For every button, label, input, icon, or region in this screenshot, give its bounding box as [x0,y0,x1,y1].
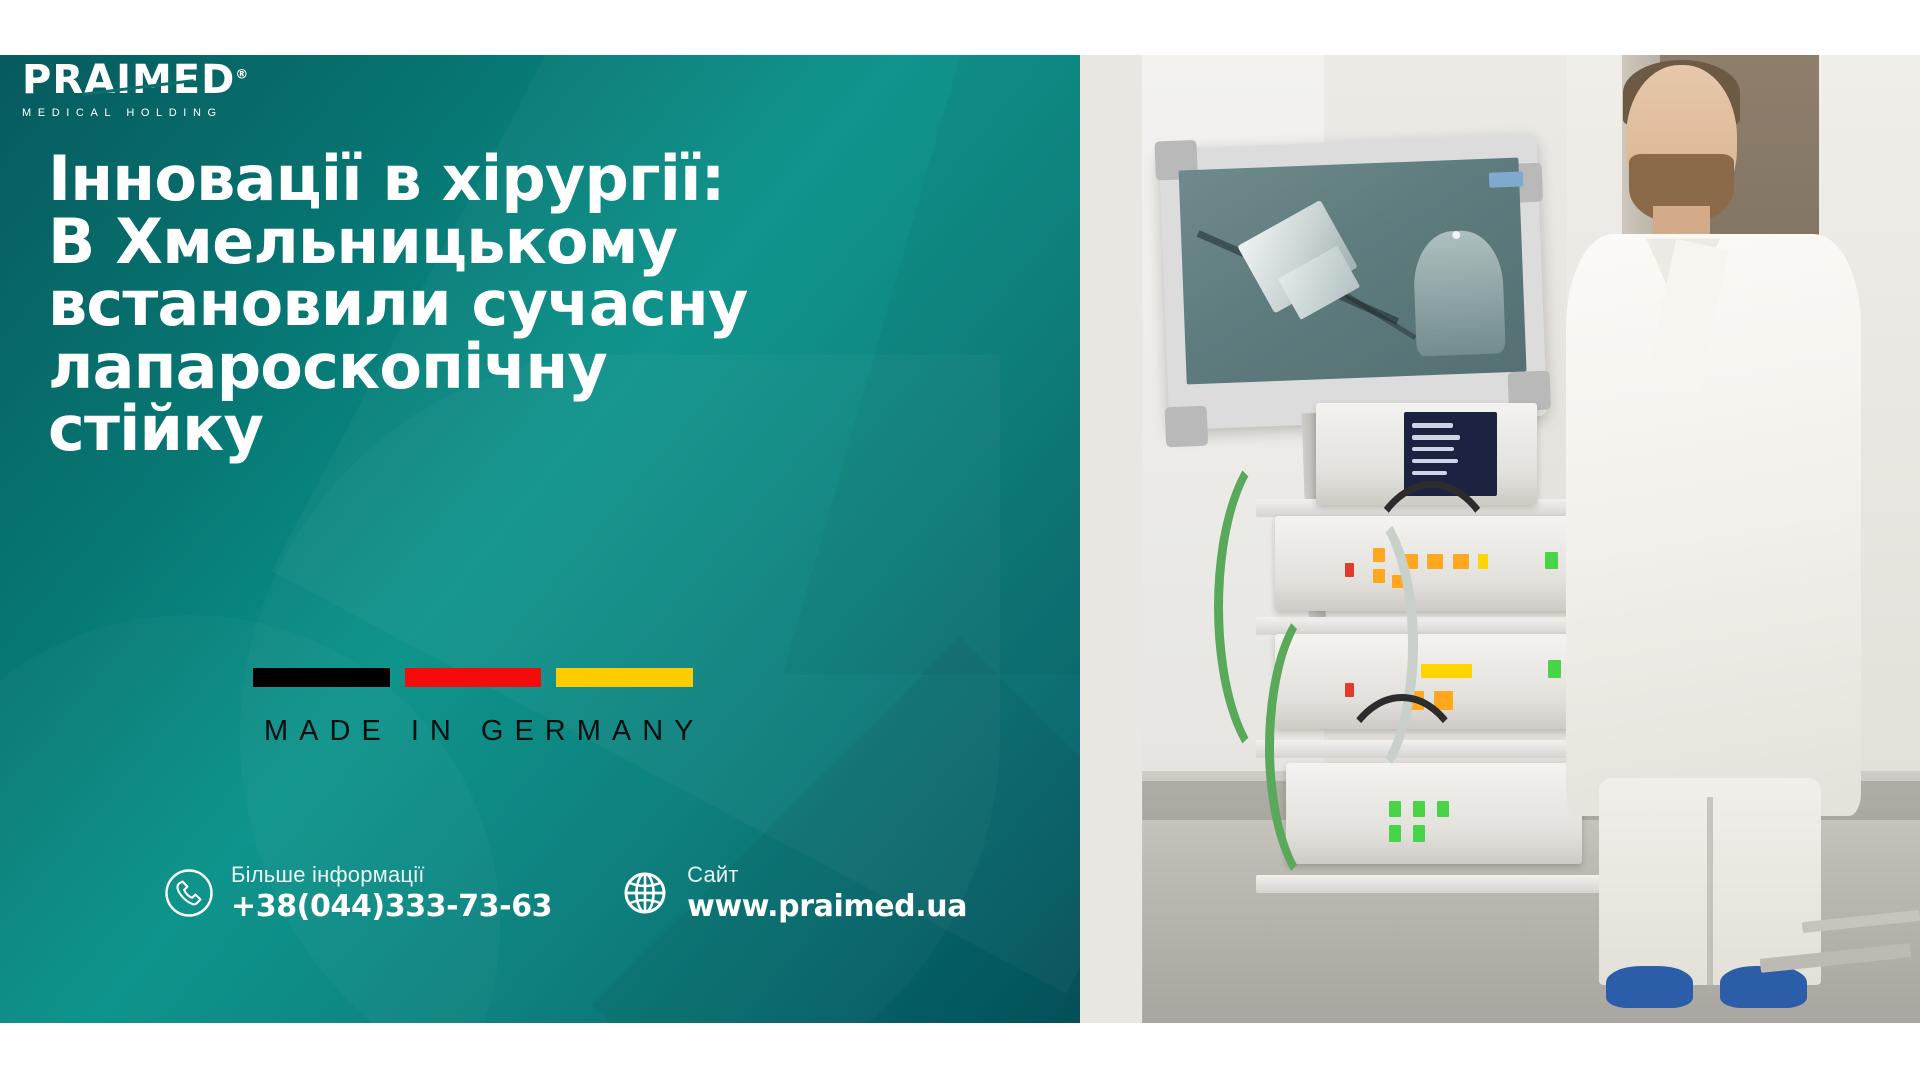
contact-website-label: Сайт [687,862,967,887]
made-in-germany-badge: MADE IN GERMANY [253,668,693,748]
headline-line-4: лапароскопічну [48,336,928,399]
headline: Інновації в хірургії: В Хмельницькому вс… [48,148,928,461]
contact-website-value[interactable]: www.praimed.ua [687,890,967,925]
globe-icon [620,868,670,918]
flag-bar-red [405,668,542,687]
headline-line-5: стійку [48,398,928,461]
doctor-shoe-right [1720,966,1807,1008]
contact-row: Більше інформації +38(044)333-73-63 Сайт… [164,862,967,925]
monitor-screen [1178,158,1526,384]
monitor-image-person [1412,229,1505,356]
phone-icon [164,868,214,918]
module-screen-line-1 [1412,423,1453,427]
contact-phone-text: Більше інформації +38(044)333-73-63 [231,862,552,925]
headline-line-1: Інновації в хірургії: [48,148,928,211]
module-screen-line-2 [1412,435,1460,439]
flag-bar-black [253,668,390,687]
brand-logo-tagline: MEDICAL HOLDING [22,107,249,119]
contact-website-text: Сайт www.praimed.ua [687,862,967,925]
monitor-image-glint [1452,231,1460,239]
module-screen-line-4 [1412,459,1459,463]
headline-line-2: В Хмельницькому [48,211,928,274]
brand-logo-name: PRAIMED [22,57,235,103]
medical-monitor: FSN [1159,135,1547,430]
photo-clip: FSN [1080,55,1920,1023]
contact-phone-label: Більше інформації [231,862,552,887]
monitor-sticker [1489,172,1524,187]
dark-cable-1 [1357,481,1507,711]
equipment-photo: FSN [1080,55,1920,1023]
contact-phone-value[interactable]: +38(044)333-73-63 [231,890,552,925]
promo-banner: PRAIMED® MEDICAL HOLDING Інновації в хір… [0,0,1920,1080]
contact-website[interactable]: Сайт www.praimed.ua [620,862,967,925]
module-screen-line-5 [1412,471,1447,475]
made-in-germany-label: MADE IN GERMANY [253,715,693,748]
doctor-figure [1559,65,1895,1004]
brand-logo-wordmark: PRAIMED® [22,60,249,100]
contact-phone[interactable]: Більше інформації +38(044)333-73-63 [164,862,552,925]
doctor-leg-divide [1707,797,1714,985]
flag-bar-gold [556,668,693,687]
german-flag-bars [253,668,693,687]
module-power-led-green-1 [1545,552,1558,569]
brand-logo[interactable]: PRAIMED® MEDICAL HOLDING [22,60,249,119]
registered-trademark-icon: ® [235,68,249,83]
doctor-shoe-left [1606,966,1693,1008]
headline-line-3: встановили сучасну [48,273,928,336]
dark-cable-2 [1332,694,1472,894]
module-screen-line-3 [1412,447,1455,451]
